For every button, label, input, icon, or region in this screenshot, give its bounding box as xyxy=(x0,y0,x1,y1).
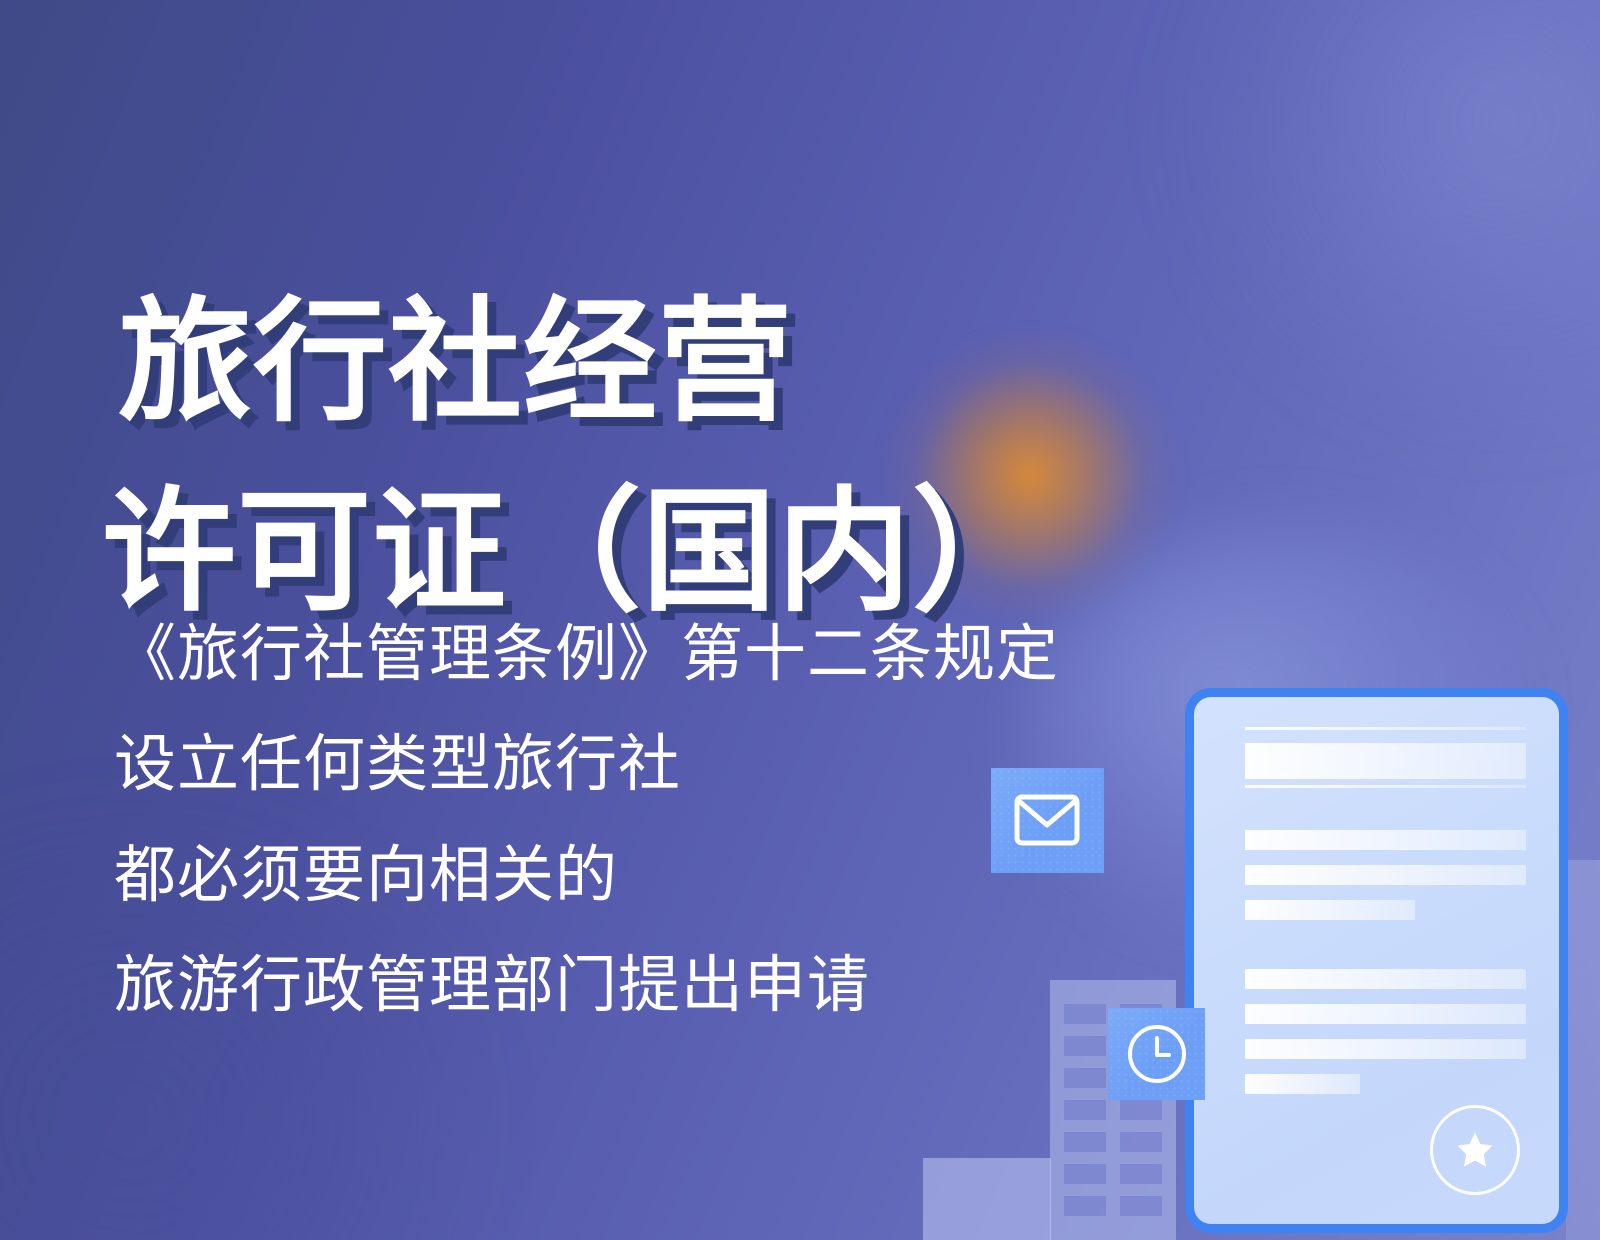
poster-body-copy: 《旅行社管理条例》第十二条规定 设立任何类型旅行社 都必须要向相关的 旅游行政管… xyxy=(114,600,1164,1041)
poster-title-line-1: 旅行社经营 xyxy=(118,268,1198,458)
document-text-line xyxy=(1245,865,1526,885)
star-badge-icon xyxy=(1430,1105,1520,1195)
body-line-2: 设立任何类型旅行社 xyxy=(114,710,1164,820)
document-text-line xyxy=(1245,743,1526,779)
document-text-line xyxy=(1245,830,1526,850)
body-line-3: 都必须要向相关的 xyxy=(114,821,1164,931)
document-text-line xyxy=(1245,1074,1360,1094)
poster-title: 旅行社经营 许可证（国内） xyxy=(118,268,1198,649)
building-window xyxy=(1064,1132,1106,1152)
building-window xyxy=(1120,1132,1162,1152)
document-text-line xyxy=(1245,1039,1526,1059)
document-text-line xyxy=(1245,900,1415,920)
building-base xyxy=(923,1158,1051,1240)
poster-canvas: 旅行社经营 许可证（国内） 《旅行社管理条例》第十二条规定 设立任何类型旅行社 … xyxy=(0,0,1600,1240)
document-card xyxy=(1185,688,1568,1233)
building-window xyxy=(1064,1100,1106,1120)
building-window xyxy=(1064,1164,1106,1184)
background-slab-shape xyxy=(1566,860,1600,1240)
document-text-line xyxy=(1245,969,1526,989)
building-window xyxy=(1120,1164,1162,1184)
document-rule xyxy=(1245,785,1526,788)
building-window xyxy=(1120,1196,1162,1216)
background-glow-top-right xyxy=(1180,0,1600,420)
building-window xyxy=(1120,1068,1162,1088)
building-window xyxy=(1064,1196,1106,1216)
document-rule xyxy=(1245,727,1526,730)
building-window xyxy=(1120,1100,1162,1120)
document-text-line xyxy=(1245,1004,1526,1024)
body-line-1: 《旅行社管理条例》第十二条规定 xyxy=(114,600,1164,710)
body-line-4: 旅游行政管理部门提出申请 xyxy=(114,931,1164,1041)
building-window xyxy=(1064,1068,1106,1088)
